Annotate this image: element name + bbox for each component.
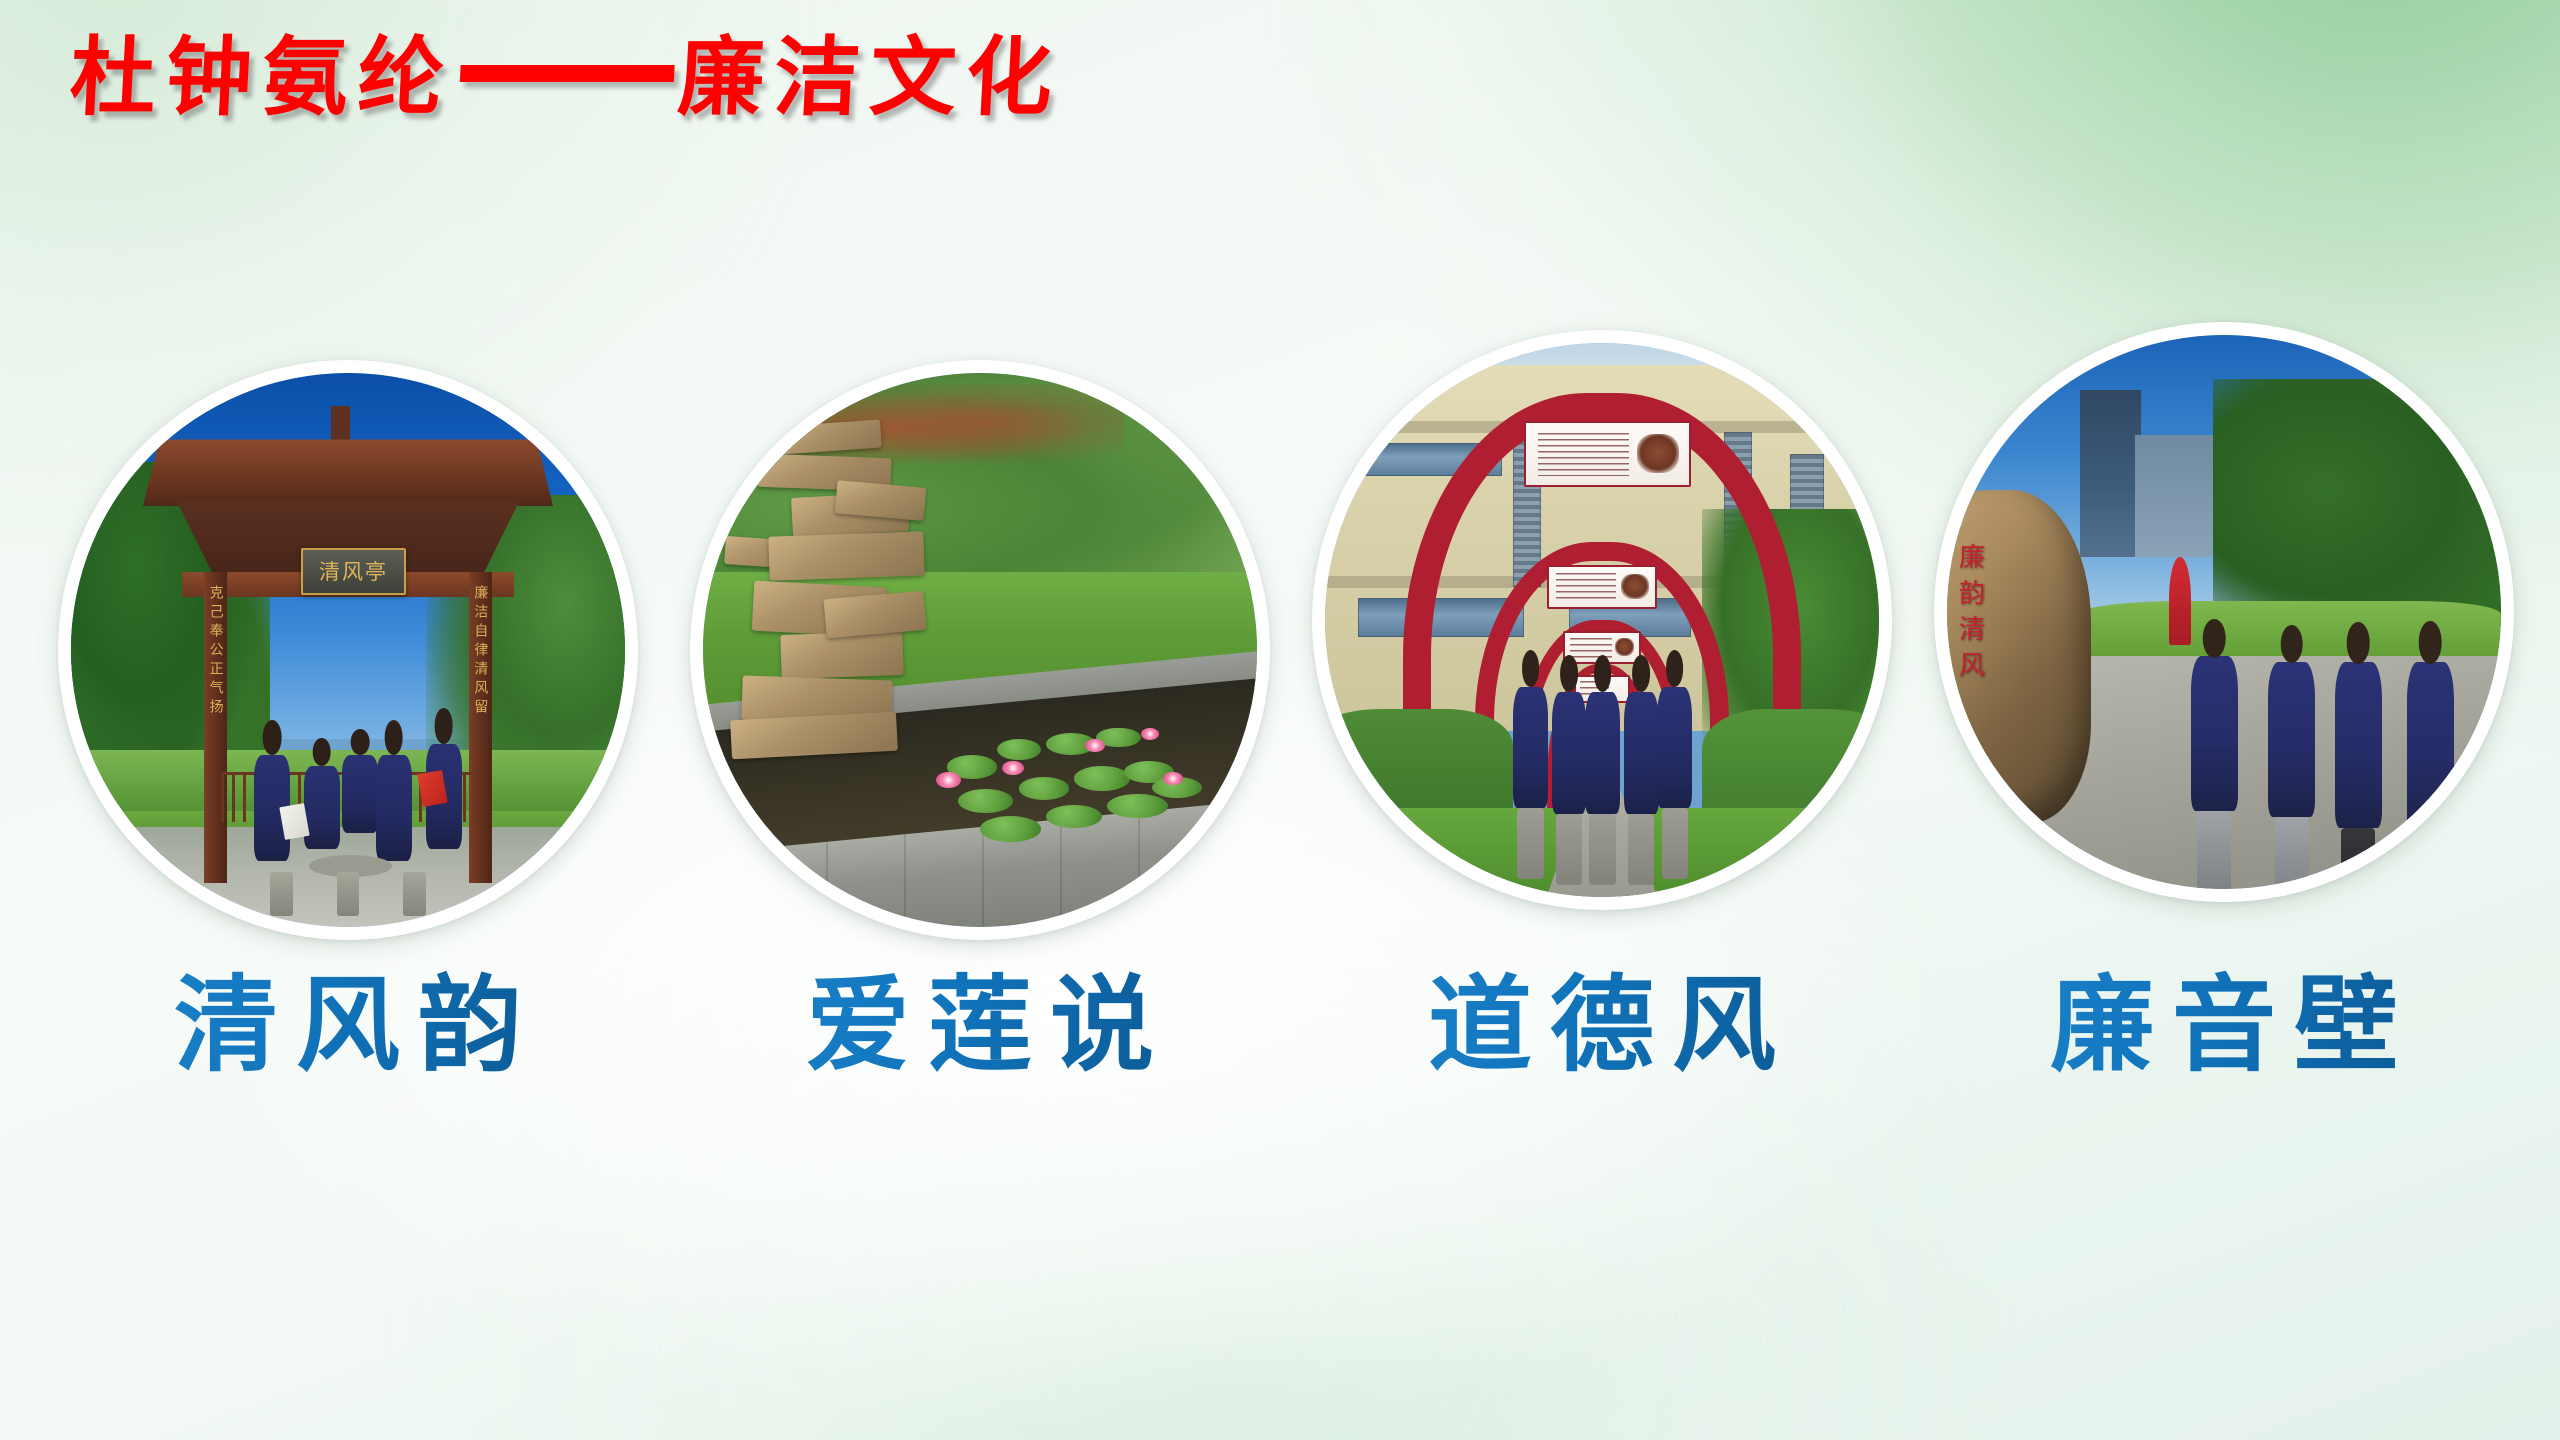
slide-canvas: 杜钟氨纶廉洁文化 — [0, 0, 2560, 1440]
culture-board — [1547, 565, 1658, 609]
photo-circle-frame — [690, 360, 1270, 940]
lily-pad — [997, 739, 1041, 760]
rockery-stone — [823, 590, 926, 637]
slide-title-block: 杜钟氨纶廉洁文化 — [70, 18, 1570, 138]
lily-pad — [1019, 777, 1069, 799]
photo-gallery-row: 清风亭 克己奉公正气扬 廉洁自律清风留 — [0, 330, 2560, 950]
person-figure — [1513, 687, 1547, 809]
board-text-lines — [1570, 638, 1611, 658]
person-legs — [1662, 808, 1688, 879]
booklet — [279, 803, 309, 840]
photo-caption-qingfengyun: 清风韵 — [58, 950, 638, 1100]
person-figure — [1624, 692, 1658, 814]
caption-row: 清风韵 爱莲说 道德风 廉音壁 — [0, 950, 2560, 1110]
photo-caption-ailianshuo: 爱莲说 — [690, 950, 1270, 1100]
page-title-suffix: 廉洁文化 — [675, 27, 1064, 128]
person-legs — [1517, 808, 1543, 879]
photo-item-lianyinbi[interactable]: 廉韵清风 — [1934, 322, 2514, 902]
scene-arch-corridor — [1325, 343, 1879, 897]
red-sculpture — [2169, 557, 2191, 646]
photo-item-daodefeng[interactable] — [1312, 330, 1892, 910]
couplet-left: 克己奉公正气扬 — [206, 585, 226, 718]
title-dash-rule — [460, 65, 675, 82]
city-building — [2135, 435, 2224, 557]
pavilion-plaque: 清风亭 — [301, 548, 406, 595]
photo-circle-frame — [1312, 330, 1892, 910]
person-figure — [1657, 687, 1691, 809]
person-legs — [2341, 828, 2375, 889]
person-legs — [1628, 814, 1654, 885]
person-figure — [342, 755, 378, 833]
photo-item-qingfengyun[interactable]: 清风亭 克己奉公正气扬 廉洁自律清风留 — [58, 360, 638, 940]
photo-image — [1325, 343, 1879, 897]
rockery-stone — [769, 531, 926, 581]
board-text-lines — [1556, 573, 1616, 601]
person-figure — [376, 755, 412, 860]
boulder-inscription: 廉韵清风 — [1951, 543, 1988, 687]
lotus-flower — [1163, 772, 1183, 785]
person-legs — [2413, 834, 2447, 889]
board-text-lines — [1538, 433, 1629, 477]
person-figure — [1552, 692, 1586, 814]
page-title-prefix: 杜钟氨纶 — [67, 27, 456, 128]
photo-image: 廉韵清风 — [1947, 335, 2501, 889]
person-legs — [2197, 811, 2231, 889]
couplet-right: 廉洁自律清风留 — [470, 585, 490, 718]
scene-inscribed-boulder: 廉韵清风 — [1947, 335, 2501, 889]
pavilion-pillar-left: 克己奉公正气扬 — [204, 572, 227, 882]
stone-stool — [403, 872, 425, 916]
person-figure — [2407, 662, 2454, 834]
person-legs — [1556, 814, 1582, 885]
board-illustration — [1637, 434, 1679, 473]
photo-caption-lianyinbi: 廉音壁 — [1934, 950, 2514, 1100]
pavilion-pillar-right: 廉洁自律清风留 — [469, 572, 492, 882]
culture-board — [1524, 421, 1690, 487]
photo-circle-frame: 廉韵清风 — [1934, 322, 2514, 902]
city-building — [2080, 390, 2141, 556]
person-figure — [2335, 662, 2382, 828]
stone-stool — [337, 872, 359, 916]
photo-image — [703, 373, 1257, 927]
lily-pad — [958, 789, 1013, 813]
photo-image: 清风亭 克己奉公正气扬 廉洁自律清风留 — [71, 373, 625, 927]
board-illustration — [1621, 574, 1649, 599]
person-figure — [1585, 692, 1619, 814]
person-figure — [304, 766, 340, 849]
rockery-stone — [780, 631, 903, 680]
lily-pad — [980, 816, 1041, 841]
person-legs — [2275, 817, 2309, 889]
lotus-flower — [1141, 728, 1160, 740]
photo-item-ailianshuo[interactable] — [690, 360, 1270, 940]
lotus-flower — [1085, 739, 1105, 752]
scene-pavilion: 清风亭 克己奉公正气扬 廉洁自律清风留 — [71, 373, 625, 927]
photo-caption-daodefeng: 道德风 — [1312, 950, 1892, 1100]
roof-finial — [331, 406, 350, 445]
pavilion-roof — [143, 439, 553, 505]
person-figure — [2191, 656, 2238, 811]
person-figure — [2268, 662, 2315, 817]
scene-lotus-pond — [703, 373, 1257, 927]
lily-pad — [1074, 766, 1129, 790]
board-illustration — [1615, 638, 1634, 656]
person-legs — [1589, 814, 1615, 885]
photo-circle-frame: 清风亭 克己奉公正气扬 廉洁自律清风留 — [58, 360, 638, 940]
inscribed-boulder: 廉韵清风 — [1947, 490, 2091, 822]
page-title: 杜钟氨纶廉洁文化 — [68, 35, 1065, 121]
stone-stool — [270, 872, 292, 916]
